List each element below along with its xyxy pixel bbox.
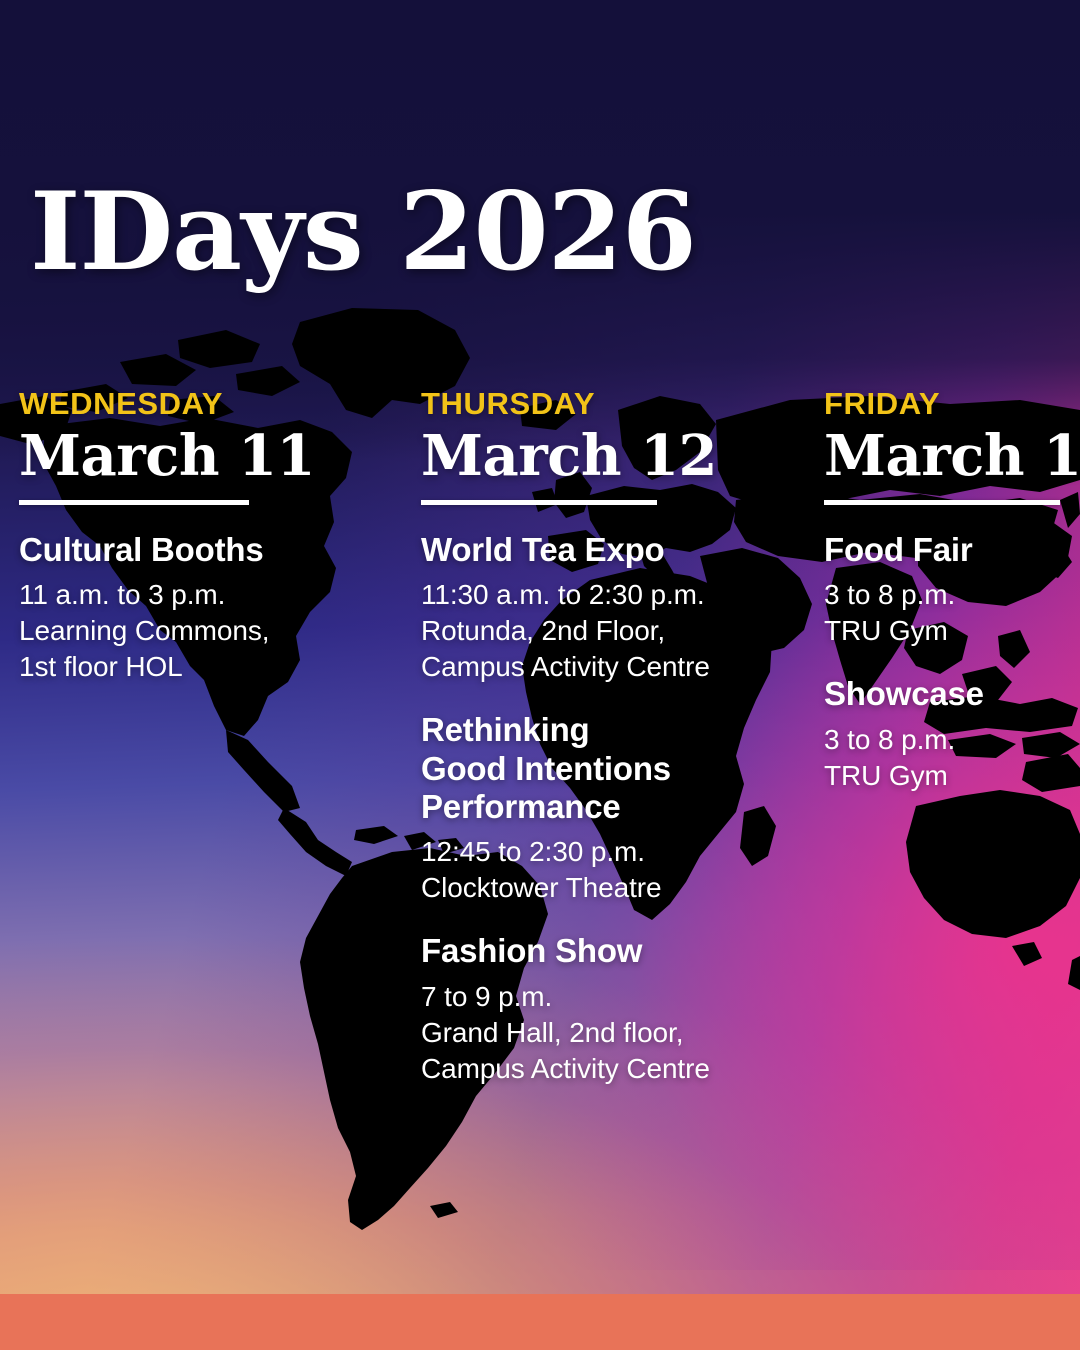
date-label: March 11 [19, 427, 264, 486]
date-label: March 12 [421, 427, 771, 486]
event-title: Fashion Show [421, 932, 771, 970]
event-item: Fashion Show 7 to 9 p.m. Grand Hall, 2nd… [421, 932, 771, 1087]
event-title: World Tea Expo [421, 531, 771, 569]
event-item: Showcase 3 to 8 p.m. TRU Gym [824, 675, 1076, 793]
poster-canvas: IDays 2026 WEDNESDAY March 11 Cultural B… [0, 0, 1080, 1350]
event-detail-line: 3 to 8 p.m. [824, 577, 1076, 613]
event-item: Rethinking Good Intentions Performance 1… [421, 711, 771, 906]
event-detail-line: Grand Hall, 2nd floor, [421, 1015, 771, 1051]
event-detail-line: Learning Commons, [19, 613, 264, 649]
weekday-label: FRIDAY [824, 388, 1076, 419]
event-detail-line: TRU Gym [824, 613, 1076, 649]
event-detail-line: 7 to 9 p.m. [421, 979, 771, 1015]
event-detail-line: 11 a.m. to 3 p.m. [19, 577, 264, 613]
bottom-accent-bar [0, 1294, 1080, 1350]
column-divider [421, 500, 657, 505]
event-item: Cultural Booths 11 a.m. to 3 p.m. Learni… [19, 531, 264, 686]
column-divider [19, 500, 249, 505]
day-column-friday: FRIDAY March 13 Food Fair 3 to 8 p.m. TR… [824, 388, 1076, 794]
page-title: IDays 2026 [30, 178, 696, 286]
weekday-label: THURSDAY [421, 388, 771, 419]
event-detail-line: 12:45 to 2:30 p.m. [421, 834, 771, 870]
event-title: Cultural Booths [19, 531, 264, 569]
poster-content: IDays 2026 WEDNESDAY March 11 Cultural B… [0, 0, 1080, 1350]
event-detail-line: 3 to 8 p.m. [824, 722, 1076, 758]
date-label: March 13 [824, 427, 1076, 486]
day-column-thursday: THURSDAY March 12 World Tea Expo 11:30 a… [421, 388, 771, 1087]
event-detail-line: 11:30 a.m. to 2:30 p.m. [421, 577, 771, 613]
event-title: Rethinking Good Intentions Performance [421, 711, 771, 826]
event-detail-line: Clocktower Theatre [421, 870, 771, 906]
event-item: Food Fair 3 to 8 p.m. TRU Gym [824, 531, 1076, 649]
event-detail-line: 1st floor HOL [19, 649, 264, 685]
event-detail-line: TRU Gym [824, 758, 1076, 794]
weekday-label: WEDNESDAY [19, 388, 264, 419]
event-detail-line: Campus Activity Centre [421, 649, 771, 685]
day-column-wednesday: WEDNESDAY March 11 Cultural Booths 11 a.… [19, 388, 264, 685]
column-divider [824, 500, 1060, 505]
event-detail-line: Campus Activity Centre [421, 1051, 771, 1087]
event-title: Showcase [824, 675, 1076, 713]
event-title: Food Fair [824, 531, 1076, 569]
event-detail-line: Rotunda, 2nd Floor, [421, 613, 771, 649]
event-item: World Tea Expo 11:30 a.m. to 2:30 p.m. R… [421, 531, 771, 686]
